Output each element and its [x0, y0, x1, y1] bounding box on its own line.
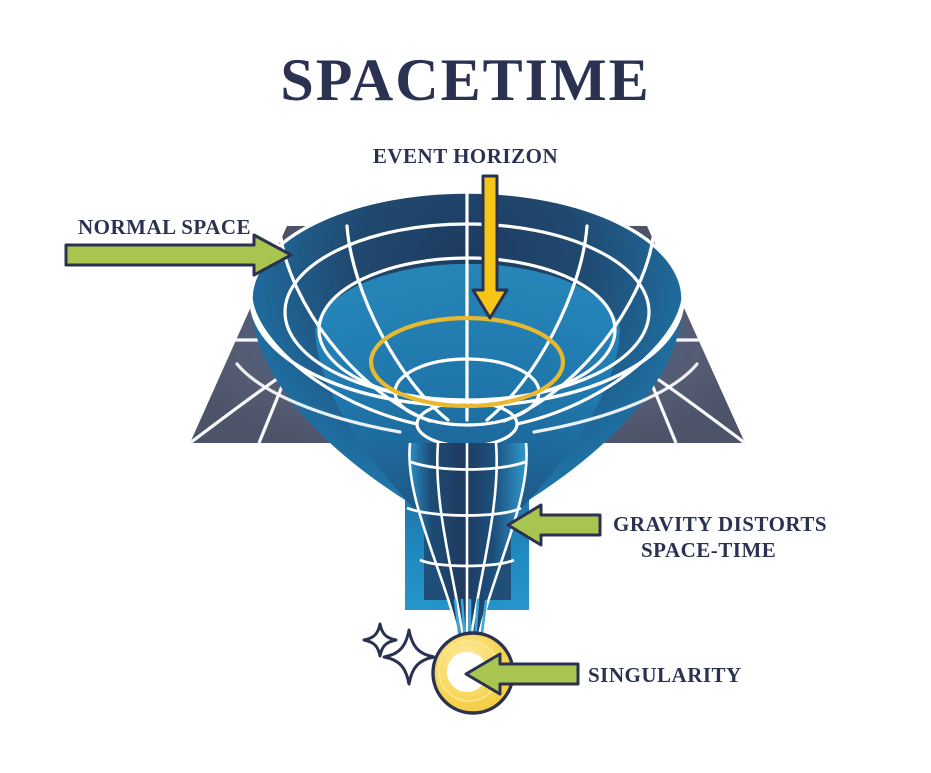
label-normal-space: NORMAL SPACE [78, 215, 251, 240]
label-gravity-distorts: GRAVITY DISTORTS [613, 512, 827, 537]
spacetime-illustration [0, 0, 931, 773]
diagram-canvas: SPACETIME EVENT HORIZON NORMAL SPACE GRA… [0, 0, 931, 773]
label-singularity: SINGULARITY [588, 663, 742, 688]
sparkle-stars-group [364, 624, 434, 684]
sparkle-star-small [364, 624, 396, 656]
normal-space-arrow [66, 235, 291, 275]
label-space-time: SPACE-TIME [641, 538, 776, 563]
page-title: SPACETIME [0, 46, 931, 115]
label-event-horizon: EVENT HORIZON [0, 144, 931, 169]
